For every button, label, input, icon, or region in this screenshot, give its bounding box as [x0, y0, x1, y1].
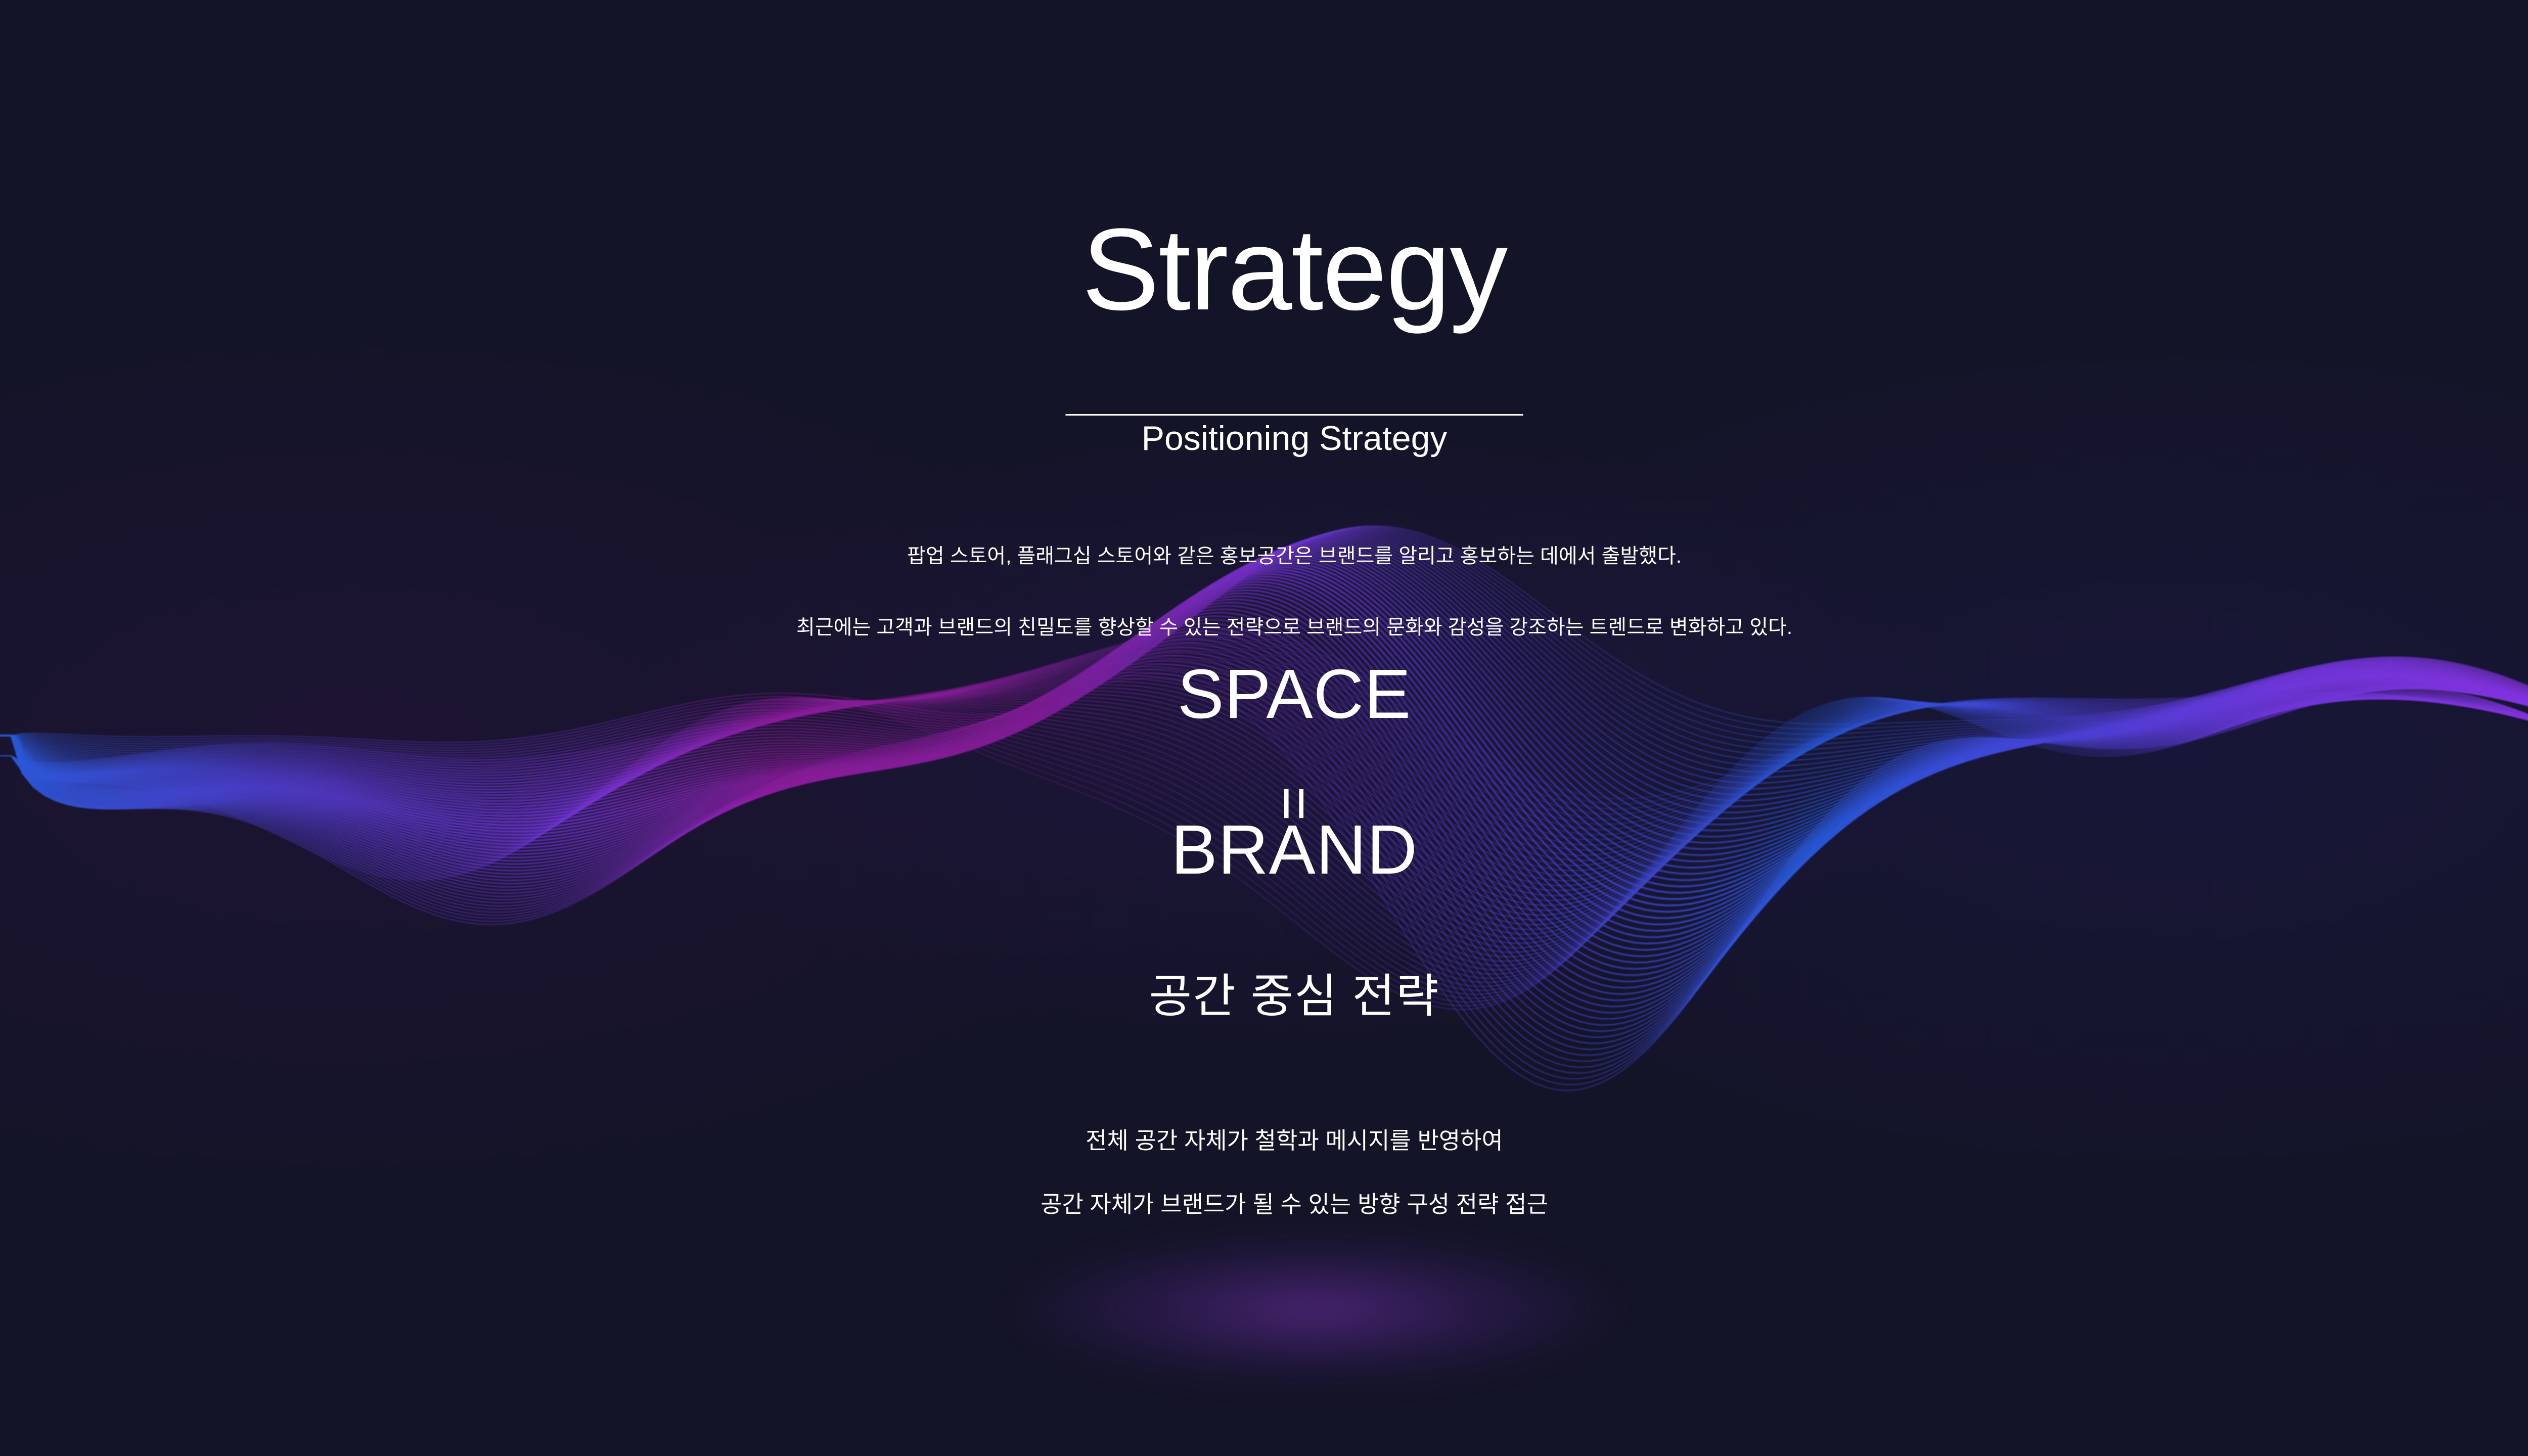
lead-paragraph-line-2: 최근에는 고객과 브랜드의 친밀도를 향상할 수 있는 전략으로 브랜드의 문화… — [0, 612, 2528, 643]
formula-space-row: SPACE — [0, 659, 2528, 729]
lead-paragraph-line-1: 팝업 스토어, 플래그십 스토어와 같은 홍보공간은 브랜드를 알리고 홍보하는… — [0, 541, 2528, 571]
page-title: Strategy — [0, 211, 2528, 328]
slide-canvas: Strategy Positioning Strategy 팝업 스토어, 플래… — [0, 0, 2528, 1456]
korean-headline: 공간 중심 전략 — [0, 973, 2528, 1020]
slide-content: Strategy Positioning Strategy 팝업 스토어, 플래… — [0, 0, 2528, 1456]
page-subtitle: Positioning Strategy — [0, 414, 2528, 464]
formula-space-word: SPACE — [1178, 655, 1412, 733]
outro-line-2: 공간 자체가 브랜드가 될 수 있는 방향 구성 전략 접근 — [0, 1187, 2528, 1222]
formula-brand-word: BRAND — [1171, 811, 1418, 889]
formula-brand-row: BRAND — [0, 815, 2528, 885]
outro-line-1: 전체 공간 자체가 철학과 메시지를 반영하여 — [0, 1123, 2528, 1158]
